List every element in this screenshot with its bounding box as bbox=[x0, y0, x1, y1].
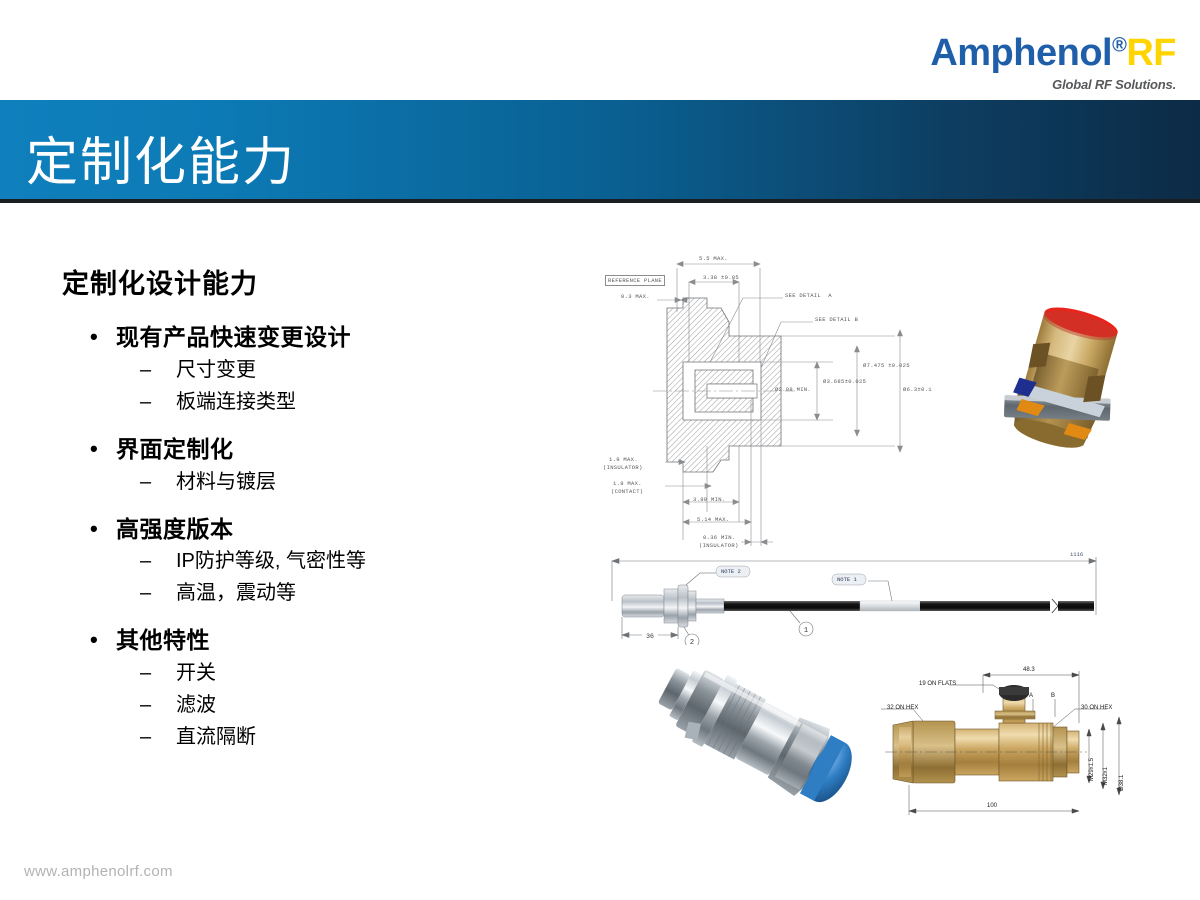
brass-dim-483-label: 48.3 bbox=[1023, 667, 1035, 673]
cad-dim-label: 0.3 MAX. bbox=[621, 293, 650, 300]
sub-bullet-item: – 材料与镀层 bbox=[140, 468, 562, 497]
slide-title-banner: 定制化能力 bbox=[0, 100, 1200, 203]
sub-bullet-label: 开关 bbox=[176, 659, 216, 688]
cad-dim-label: 5.14 MAX. bbox=[697, 516, 729, 523]
brass-thread-m29-label: M29x1.5 bbox=[1089, 758, 1095, 781]
brass-connector-svg bbox=[875, 665, 1140, 825]
cad-dim-label: 5.5 MAX. bbox=[699, 255, 728, 262]
sub-bullet-item: – 高温，震动等 bbox=[140, 579, 562, 608]
logo-wordmark: Amphenol®RF bbox=[930, 34, 1176, 72]
brass-dim-100-label: 100 bbox=[987, 803, 997, 809]
bullet-group: • 界面定制化 – 材料与镀层 bbox=[62, 435, 562, 497]
brass-hex30-label: 30 ON HEX bbox=[1081, 705, 1112, 711]
cad-dim-sub-label: (CONTACT) bbox=[611, 488, 643, 495]
brass-connector-drawing: 32 ON HEX 19 ON FLATS 30 ON HEX 48.3 100… bbox=[875, 665, 1140, 825]
sub-bullet-item: – 开关 bbox=[140, 659, 562, 688]
sub-bullet-label: 高温，震动等 bbox=[176, 579, 296, 608]
brass-mark-b-label: B bbox=[1051, 693, 1055, 699]
registered-trademark-icon: ® bbox=[1112, 34, 1126, 56]
logo-tagline: Global RF Solutions. bbox=[930, 78, 1176, 91]
dash-icon: – bbox=[140, 356, 176, 385]
brass-dia-381-label: Ø38.1 bbox=[1119, 775, 1125, 791]
bullet-dot-icon: • bbox=[90, 323, 116, 351]
cad-dim-label: Ø7.475 ±0.025 bbox=[863, 362, 910, 369]
figure-area: 5.5 MAX. REFERENCE PLANE 3.38 ±0.05 0.3 … bbox=[595, 240, 1195, 840]
sub-bullet-label: 板端连接类型 bbox=[176, 388, 296, 417]
logo-product-text: RF bbox=[1126, 32, 1176, 74]
sub-bullet-label: 直流隔断 bbox=[176, 723, 256, 752]
cad-dim-label: Ø6.3±0.1 bbox=[903, 386, 932, 393]
cad-dim-label: Ø3.685±0.025 bbox=[823, 378, 866, 385]
logo-brand-text: Amphenol bbox=[930, 32, 1112, 74]
amphenol-rf-logo: Amphenol®RF Global RF Solutions. bbox=[930, 34, 1176, 91]
dash-icon: – bbox=[140, 547, 176, 576]
sub-bullet-label: IP防护等级, 气密性等 bbox=[176, 547, 366, 576]
cad-dim-label: 1.9 MAX. bbox=[613, 480, 642, 487]
cad-dim-label: 3.99 MIN. bbox=[693, 496, 725, 503]
bullet-dot-icon: • bbox=[90, 515, 116, 543]
brass-flats19-label: 19 ON FLATS bbox=[919, 681, 956, 687]
cable-length-label: 1116 bbox=[1070, 551, 1083, 558]
cad-dim-label: 3.38 ±0.05 bbox=[703, 274, 739, 281]
cable-note2-label: NOTE 2 bbox=[721, 568, 741, 575]
cad-dim-label: Ø2.08 MIN. bbox=[775, 386, 811, 393]
footer-website-url[interactable]: www.amphenolrf.com bbox=[24, 863, 173, 880]
sub-bullet-item: – 滤波 bbox=[140, 691, 562, 720]
cad-detail-b-label: SEE DETAIL B bbox=[815, 316, 858, 323]
bullet-label: 界面定制化 bbox=[116, 435, 234, 464]
dash-icon: – bbox=[140, 659, 176, 688]
brass-mark-a-label: A bbox=[1029, 693, 1033, 699]
bullet-dot-icon: • bbox=[90, 626, 116, 654]
sub-bullet-item: – 板端连接类型 bbox=[140, 388, 562, 417]
sub-bullet-label: 滤波 bbox=[176, 691, 216, 720]
bullet-group: • 高强度版本 – IP防护等级, 气密性等 – 高温，震动等 bbox=[62, 515, 562, 609]
dash-icon: – bbox=[140, 691, 176, 720]
nickel-connector-svg bbox=[640, 652, 875, 827]
cad-dim-sub-label: (INSULATOR) bbox=[603, 464, 643, 471]
gold-connector-3d-render bbox=[980, 300, 1160, 480]
sub-bullet-item: – IP防护等级, 气密性等 bbox=[140, 547, 562, 576]
svg-text:1: 1 bbox=[804, 627, 808, 635]
bullet-item: • 界面定制化 bbox=[90, 435, 562, 464]
cad-dim-label: 1.9 MAX. bbox=[609, 456, 638, 463]
brass-thread-m32-label: M32x1 bbox=[1103, 767, 1109, 785]
bullet-dot-icon: • bbox=[90, 435, 116, 463]
cad-detail-a-label: SEE DETAIL A bbox=[785, 292, 832, 299]
dash-icon: – bbox=[140, 723, 176, 752]
bullet-item: • 其他特性 bbox=[90, 626, 562, 655]
gold-connector-svg bbox=[980, 300, 1160, 480]
connector-cross-section-drawing: 5.5 MAX. REFERENCE PLANE 3.38 ±0.05 0.3 … bbox=[595, 250, 925, 550]
bullet-group: • 其他特性 – 开关 – 滤波 – 直流隔断 bbox=[62, 626, 562, 752]
sub-bullet-item: – 直流隔断 bbox=[140, 723, 562, 752]
cable-assembly-svg: 1 2 36 bbox=[600, 545, 1120, 645]
bullet-group: • 现有产品快速变更设计 – 尺寸变更 – 板端连接类型 bbox=[62, 323, 562, 417]
nickel-connector-photo bbox=[640, 652, 875, 827]
bullet-label: 其他特性 bbox=[116, 626, 210, 655]
cad-dim-label: 0.36 MIN. bbox=[703, 534, 735, 541]
dash-icon: – bbox=[140, 388, 176, 417]
svg-text:36: 36 bbox=[646, 633, 654, 640]
sub-bullet-item: – 尺寸变更 bbox=[140, 356, 562, 385]
bullet-item: • 高强度版本 bbox=[90, 515, 562, 544]
section-heading: 定制化设计能力 bbox=[62, 262, 562, 301]
dash-icon: – bbox=[140, 468, 176, 497]
cable-note1-label: NOTE 1 bbox=[837, 576, 857, 583]
sub-bullet-label: 材料与镀层 bbox=[176, 468, 276, 497]
cad-reference-plane-label: REFERENCE PLANE bbox=[605, 275, 665, 286]
bullet-label: 高强度版本 bbox=[116, 515, 234, 544]
brass-hex32-label: 32 ON HEX bbox=[887, 705, 918, 711]
cable-assembly-drawing: 1 2 36 NOTE 2 NOTE 1 1116 bbox=[600, 545, 1120, 645]
dash-icon: – bbox=[140, 579, 176, 608]
bullet-item: • 现有产品快速变更设计 bbox=[90, 323, 562, 352]
content-column: 定制化设计能力 • 现有产品快速变更设计 – 尺寸变更 – 板端连接类型 • 界… bbox=[62, 262, 562, 754]
page-title: 定制化能力 bbox=[26, 120, 296, 195]
sub-bullet-label: 尺寸变更 bbox=[176, 356, 256, 385]
bullet-label: 现有产品快速变更设计 bbox=[116, 323, 351, 352]
svg-text:2: 2 bbox=[690, 639, 694, 645]
